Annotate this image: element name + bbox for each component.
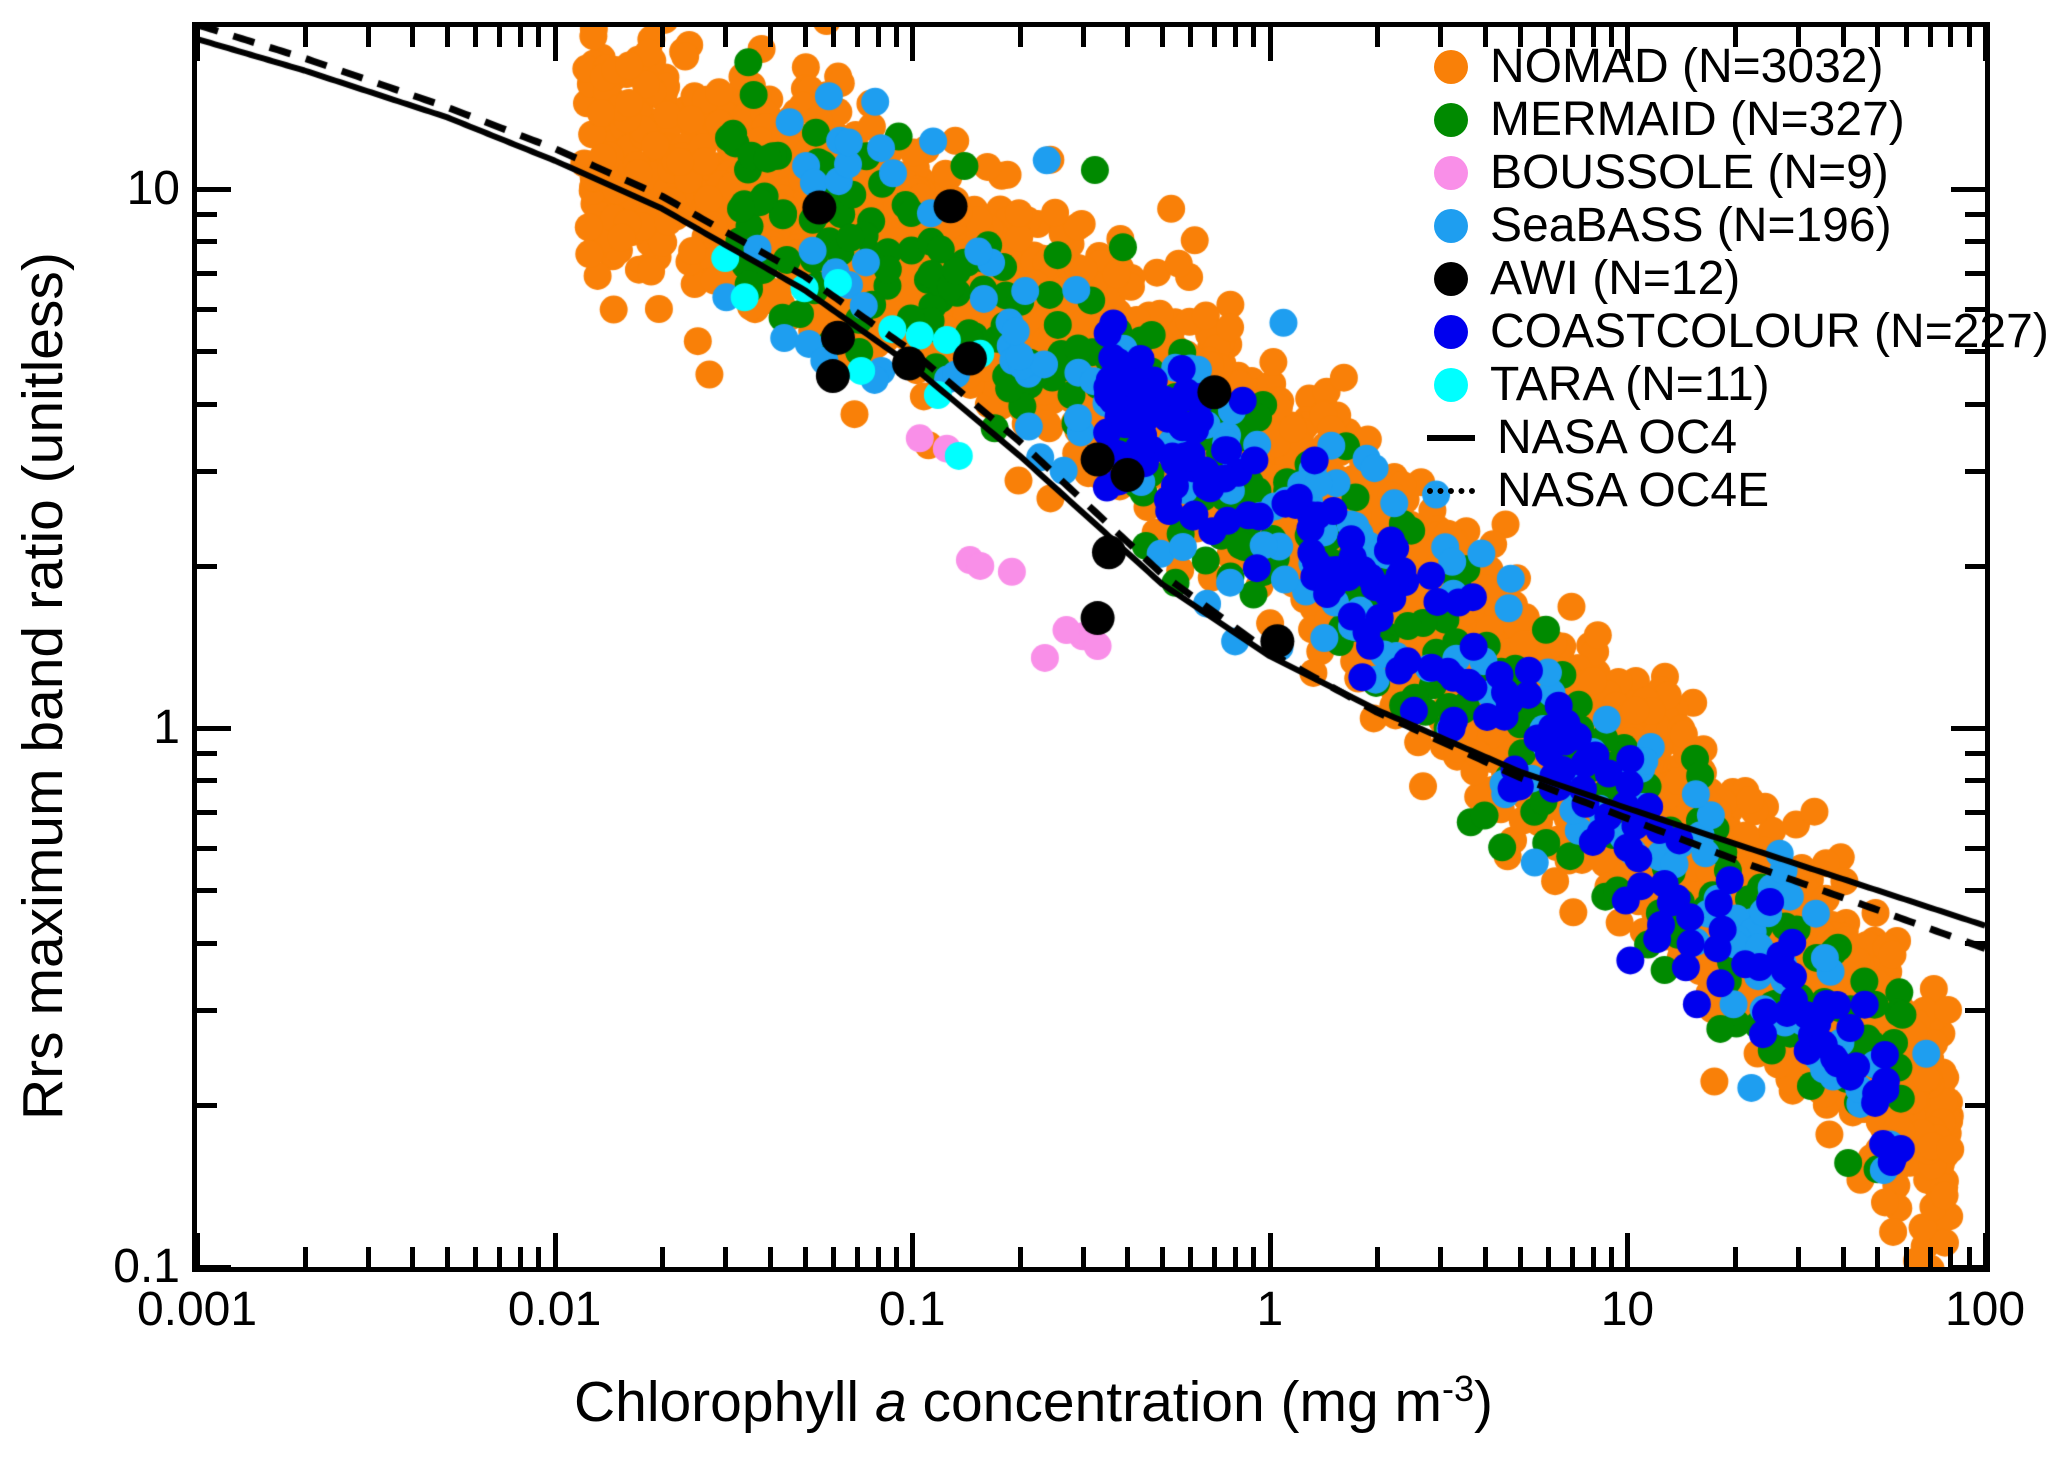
x-minor-tick-top (410, 27, 415, 47)
legend-marker-icon (1434, 103, 1468, 137)
legend-item-label: SeaBASS (N=196) (1490, 202, 1892, 250)
x-minor-tick (1125, 1247, 1130, 1267)
y-minor-tick (197, 751, 217, 756)
x-minor-tick-top (1212, 27, 1217, 47)
legend-item-label: AWI (N=12) (1490, 255, 1740, 303)
legend-marker-icon (1434, 156, 1468, 190)
x-minor-tick-top (497, 27, 502, 47)
legend-item-seabass[interactable]: SeaBASS (N=196) (1420, 199, 2020, 252)
x-minor-tick (1188, 1247, 1193, 1267)
y-minor-tick-right (1965, 1008, 1985, 1013)
x-minor-tick (1212, 1247, 1217, 1267)
y-minor-tick-right (1965, 810, 1985, 815)
y-minor-tick (197, 349, 217, 354)
x-tick-label: 0.01 (508, 1286, 601, 1334)
y-minor-tick-right (1965, 778, 1985, 783)
x-major-tick (910, 1233, 915, 1267)
legend-item-label: NASA OC4E (1497, 467, 1769, 515)
x-minor-tick (1518, 1247, 1523, 1267)
x-minor-tick (366, 1247, 371, 1267)
y-minor-tick (197, 564, 217, 569)
x-major-tick (1983, 1233, 1988, 1267)
legend-line-icon (1427, 488, 1475, 494)
legend-item-label: NOMAD (N=3032) (1490, 43, 1883, 91)
x-axis-title-post: concentration (mg m (907, 1370, 1442, 1434)
x-minor-tick (723, 1247, 728, 1267)
x-minor-tick-top (768, 27, 773, 47)
x-minor-tick-top (876, 27, 881, 47)
y-major-tick-right (1951, 1265, 1985, 1270)
x-minor-tick (1948, 1247, 1953, 1267)
y-minor-tick (197, 846, 217, 851)
x-minor-tick (1375, 1247, 1380, 1267)
x-minor-tick-top (723, 27, 728, 47)
x-minor-tick (660, 1247, 665, 1267)
x-minor-tick (1160, 1247, 1165, 1267)
x-major-tick-top (910, 27, 915, 61)
x-minor-tick (473, 1247, 478, 1267)
y-major-tick (197, 1265, 231, 1270)
y-minor-tick-right (1965, 1103, 1985, 1108)
x-minor-tick (518, 1247, 523, 1267)
legend-item-nasa-oc4e[interactable]: NASA OC4E (1420, 464, 2020, 517)
y-minor-tick-right (1965, 564, 1985, 569)
legend-item-label: MERMAID (N=327) (1490, 96, 1905, 144)
legend-item-coastcolour[interactable]: COASTCOLOUR (N=227) (1420, 305, 2020, 358)
x-tick-label: 1 (1256, 1286, 1283, 1334)
y-minor-tick (197, 778, 217, 783)
x-tick-label: 0.1 (879, 1286, 946, 1334)
legend-item-nasa-oc4[interactable]: NASA OC4 (1420, 411, 2020, 464)
chart-legend: NOMAD (N=3032)MERMAID (N=327)BOUSSOLE (N… (1420, 40, 2020, 517)
x-minor-tick-top (1018, 27, 1023, 47)
x-minor-tick (497, 1247, 502, 1267)
legend-item-tara[interactable]: TARA (N=11) (1420, 358, 2020, 411)
y-tick-label: 10 (60, 165, 180, 213)
y-minor-tick-right (1965, 846, 1985, 851)
x-minor-tick (1875, 1247, 1880, 1267)
y-minor-tick (197, 402, 217, 407)
x-minor-tick (1570, 1247, 1575, 1267)
legend-item-label: BOUSSOLE (N=9) (1490, 149, 1889, 197)
x-minor-tick-top (894, 27, 899, 47)
x-minor-tick-top (473, 27, 478, 47)
x-axis-title-exponent: -3 (1442, 1368, 1474, 1409)
x-minor-tick (303, 1247, 308, 1267)
x-minor-tick (536, 1247, 541, 1267)
legend-item-mermaid[interactable]: MERMAID (N=327) (1420, 93, 2020, 146)
x-minor-tick (768, 1247, 773, 1267)
legend-marker-icon (1434, 315, 1468, 349)
x-minor-tick-top (366, 27, 371, 47)
x-minor-tick-top (303, 27, 308, 47)
x-axis-title: Chlorophyll a concentration (mg m-3) (0, 1368, 2067, 1435)
x-major-tick (1625, 1233, 1630, 1267)
y-minor-tick (197, 888, 217, 893)
x-tick-label: 10 (1601, 1286, 1654, 1334)
legend-item-boussole[interactable]: BOUSSOLE (N=9) (1420, 146, 2020, 199)
x-major-tick-top (553, 27, 558, 61)
legend-marker-icon (1434, 50, 1468, 84)
x-minor-tick (1904, 1247, 1909, 1267)
x-minor-tick (445, 1247, 450, 1267)
x-tick-label: 100 (1945, 1286, 2025, 1334)
figure-root: Rrs maximum band ratio (unitless) Chloro… (0, 0, 2067, 1477)
x-minor-tick-top (1375, 27, 1380, 47)
x-minor-tick (855, 1247, 860, 1267)
x-minor-tick (1018, 1247, 1023, 1267)
legend-marker-icon (1434, 262, 1468, 296)
x-minor-tick-top (1233, 27, 1238, 47)
y-minor-tick (197, 239, 217, 244)
x-minor-tick (1928, 1247, 1933, 1267)
x-axis-title-pre: Chlorophyll (574, 1370, 875, 1434)
x-minor-tick-top (1160, 27, 1165, 47)
legend-item-label: COASTCOLOUR (N=227) (1490, 308, 2049, 356)
x-major-tick (195, 1233, 200, 1267)
y-minor-tick (197, 1008, 217, 1013)
x-minor-tick-top (536, 27, 541, 47)
legend-line-icon (1427, 435, 1475, 441)
x-minor-tick (410, 1247, 415, 1267)
x-minor-tick (894, 1247, 899, 1267)
y-major-tick (197, 187, 231, 192)
x-minor-tick-top (518, 27, 523, 47)
x-minor-tick-top (803, 27, 808, 47)
legend-item-nomad[interactable]: NOMAD (N=3032) (1420, 40, 2020, 93)
x-axis-title-tail: ) (1474, 1370, 1493, 1434)
legend-item-label: NASA OC4 (1497, 414, 1737, 462)
y-minor-tick (197, 1103, 217, 1108)
x-tick-label: 0.001 (137, 1286, 257, 1334)
x-minor-tick (1438, 1247, 1443, 1267)
x-minor-tick (1251, 1247, 1256, 1267)
x-minor-tick-top (1125, 27, 1130, 47)
y-minor-tick-right (1965, 941, 1985, 946)
y-minor-tick (197, 469, 217, 474)
y-major-tick-right (1951, 726, 1985, 731)
x-minor-tick (1591, 1247, 1596, 1267)
x-minor-tick-top (1081, 27, 1086, 47)
x-minor-tick-top (445, 27, 450, 47)
x-minor-tick-top (1188, 27, 1193, 47)
y-minor-tick-right (1965, 888, 1985, 893)
y-minor-tick (197, 810, 217, 815)
x-minor-tick (1081, 1247, 1086, 1267)
x-minor-tick (803, 1247, 808, 1267)
x-major-tick (553, 1233, 558, 1267)
y-minor-tick (197, 941, 217, 946)
y-tick-label: 0.1 (60, 1243, 180, 1291)
x-minor-tick-top (1251, 27, 1256, 47)
x-minor-tick (831, 1247, 836, 1267)
x-major-tick-top (195, 27, 200, 61)
y-minor-tick-right (1965, 751, 1985, 756)
x-minor-tick-top (660, 27, 665, 47)
x-minor-tick (1233, 1247, 1238, 1267)
y-tick-label: 1 (60, 704, 180, 752)
legend-marker-icon (1434, 368, 1468, 402)
legend-item-awi[interactable]: AWI (N=12) (1420, 252, 2020, 305)
x-minor-tick (1609, 1247, 1614, 1267)
y-minor-tick (197, 307, 217, 312)
x-axis-title-italic: a (875, 1370, 907, 1434)
x-minor-tick-top (831, 27, 836, 47)
y-minor-tick (197, 212, 217, 217)
x-minor-tick (1483, 1247, 1488, 1267)
x-minor-tick (1796, 1247, 1801, 1267)
x-minor-tick (1546, 1247, 1551, 1267)
x-major-tick-top (1268, 27, 1273, 61)
legend-item-label: TARA (N=11) (1490, 361, 1770, 409)
y-major-tick (197, 726, 231, 731)
legend-marker-icon (1434, 209, 1468, 243)
y-axis-title: Rrs maximum band ratio (unitless) (10, 252, 76, 1120)
y-minor-tick (197, 271, 217, 276)
x-minor-tick-top (855, 27, 860, 47)
x-minor-tick (1967, 1247, 1972, 1267)
x-major-tick (1268, 1233, 1273, 1267)
x-minor-tick (1733, 1247, 1738, 1267)
x-minor-tick (876, 1247, 881, 1267)
x-minor-tick (1841, 1247, 1846, 1267)
